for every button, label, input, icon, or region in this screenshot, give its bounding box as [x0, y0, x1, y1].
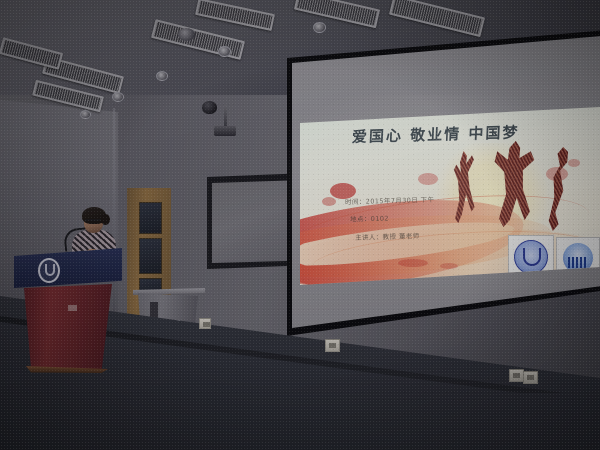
projected-slide: 爱国心 敬业情 中国梦 时间：2015年7月30日 下午 地点：0102 主讲人… [300, 107, 600, 285]
wall-outlet [199, 318, 211, 329]
wall-outlet [509, 369, 524, 382]
ceiling-projector-icon [214, 126, 236, 136]
lectern-badge [68, 305, 77, 311]
outlet-socket-icon [527, 375, 534, 380]
paint-splatter [398, 259, 428, 267]
paint-splatter [568, 159, 580, 167]
outlet-socket-icon [513, 373, 520, 378]
wall-outlet [523, 371, 538, 384]
downlight-icon [313, 22, 326, 33]
projector-mount-arm [224, 105, 227, 128]
university-crest-icon [38, 258, 60, 283]
paint-splatter [322, 197, 336, 206]
slide-content: 爱国心 敬业情 中国梦 时间：2015年7月30日 下午 地点：0102 主讲人… [300, 107, 600, 285]
paint-splatter [440, 263, 458, 269]
speaker-hair-bun [101, 214, 110, 225]
downlight-icon [112, 92, 124, 102]
wall-outlet [325, 339, 340, 352]
outlet-socket-icon [203, 322, 210, 327]
university-crest-icon [514, 240, 548, 274]
downlight-icon [80, 110, 91, 119]
slide-line-speaker: 主讲人：教授 董老师 [355, 230, 420, 242]
dome-camera-icon [202, 101, 217, 114]
door-glass-panel [139, 202, 162, 234]
slide-line-location: 地点：0102 [350, 212, 389, 223]
lectern-body [24, 284, 112, 372]
lecture-hall-photo: 爱国心 敬业情 中国梦 时间：2015年7月30日 下午 地点：0102 主讲人… [0, 0, 600, 450]
speaker-glasses-icon [85, 219, 101, 225]
outlet-socket-icon [329, 343, 336, 348]
wall-corner-edge [113, 108, 115, 323]
door-glass-panel [139, 238, 162, 274]
downlight-icon [156, 71, 168, 81]
smoke-detector-icon [178, 28, 195, 41]
downlight-icon [218, 46, 231, 57]
paint-splatter [418, 173, 438, 185]
